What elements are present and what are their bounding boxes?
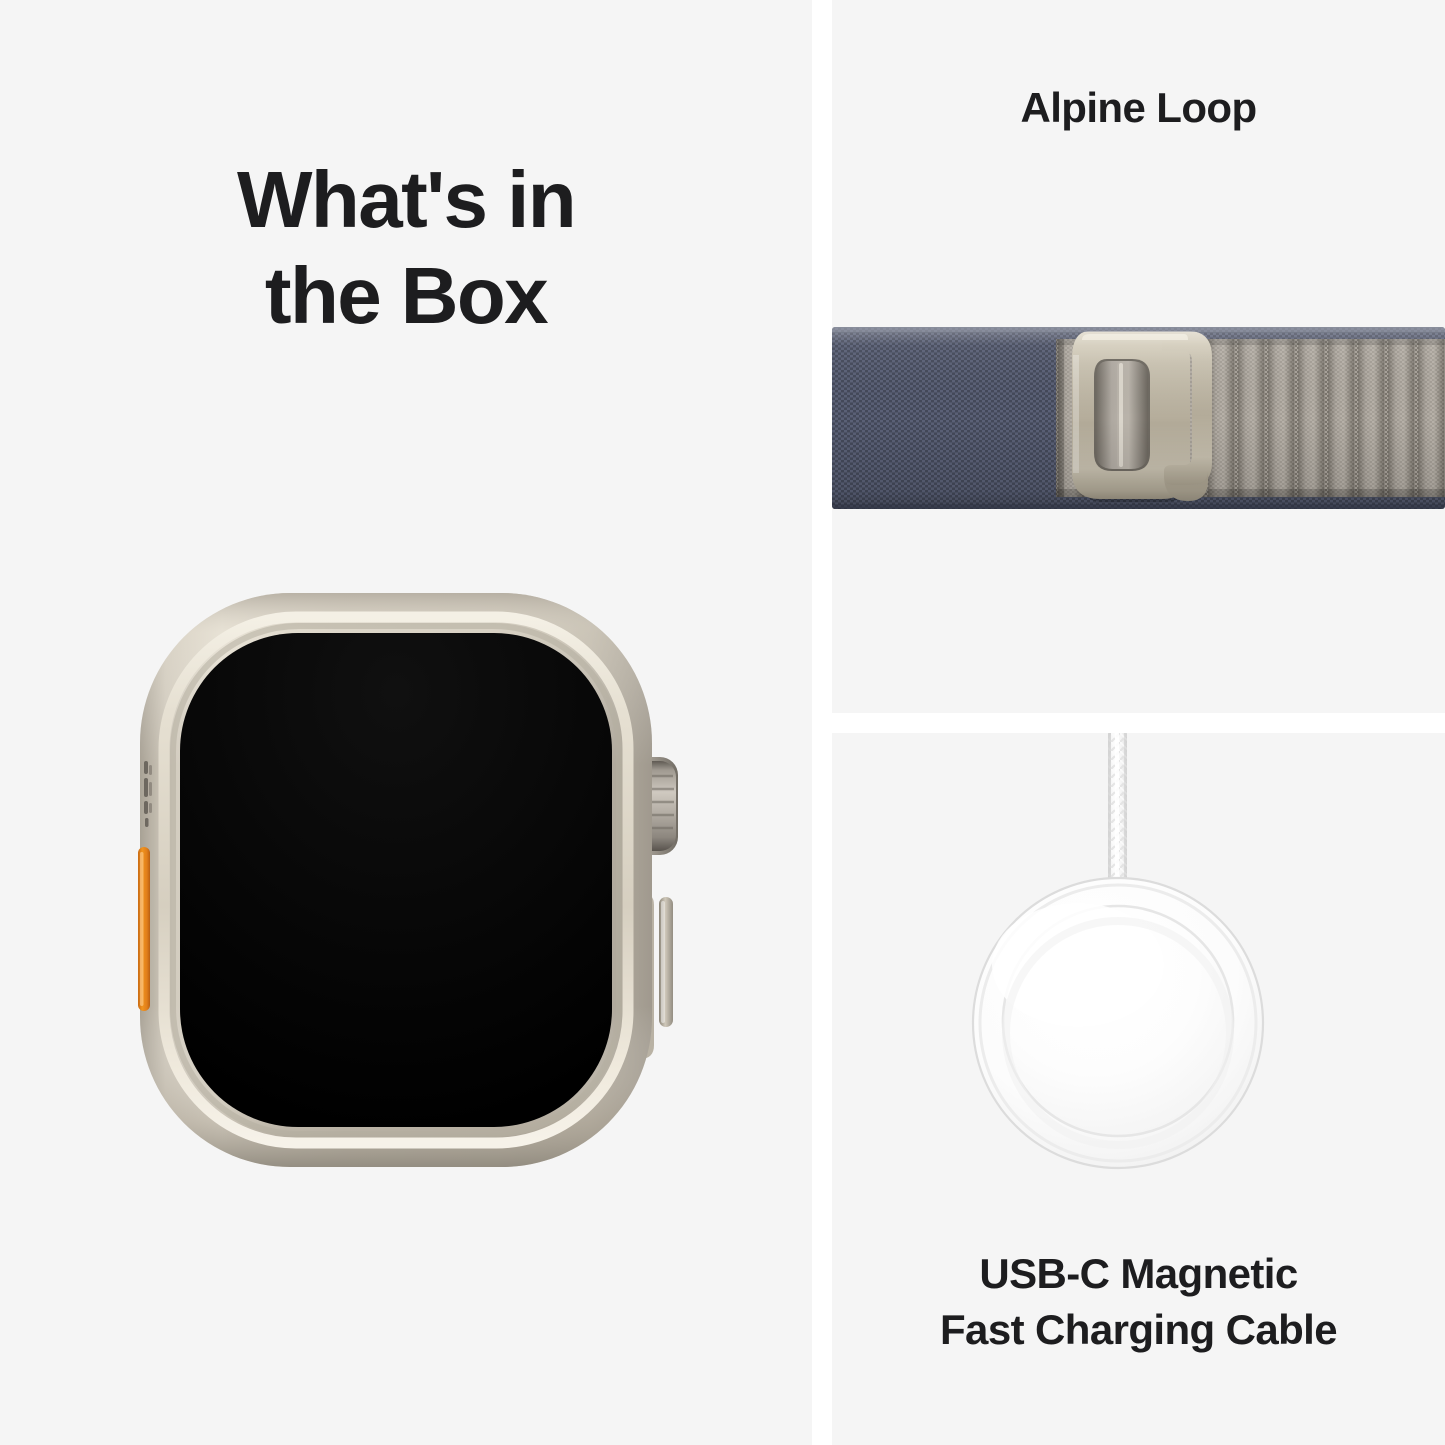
charger-illustration (832, 733, 1445, 1223)
watch-illustration (118, 575, 698, 1185)
charging-cable-caption: USB-C Magnetic Fast Charging Cable (832, 1246, 1445, 1358)
panel-usb-c-charging-cable: USB-C Magnetic Fast Charging Cable (832, 733, 1445, 1445)
apple-watch-ultra-case (118, 575, 698, 1185)
panel-alpine-loop: Alpine Loop (832, 0, 1445, 713)
panel-whats-in-the-box: What's in the Box (0, 0, 812, 1445)
page-title: What's in the Box (0, 152, 812, 344)
side-button[interactable] (659, 897, 673, 1027)
product-image-composite: What's in the Box (0, 0, 1445, 1445)
charging-puck (973, 878, 1263, 1168)
usb-c-magnetic-fast-charging-cable (832, 733, 1445, 1223)
band-illustration (832, 325, 1445, 513)
alpine-loop-caption: Alpine Loop (832, 82, 1445, 134)
alpine-loop-band (832, 325, 1445, 513)
watch-display[interactable] (180, 633, 612, 1127)
action-button[interactable] (138, 847, 150, 1011)
